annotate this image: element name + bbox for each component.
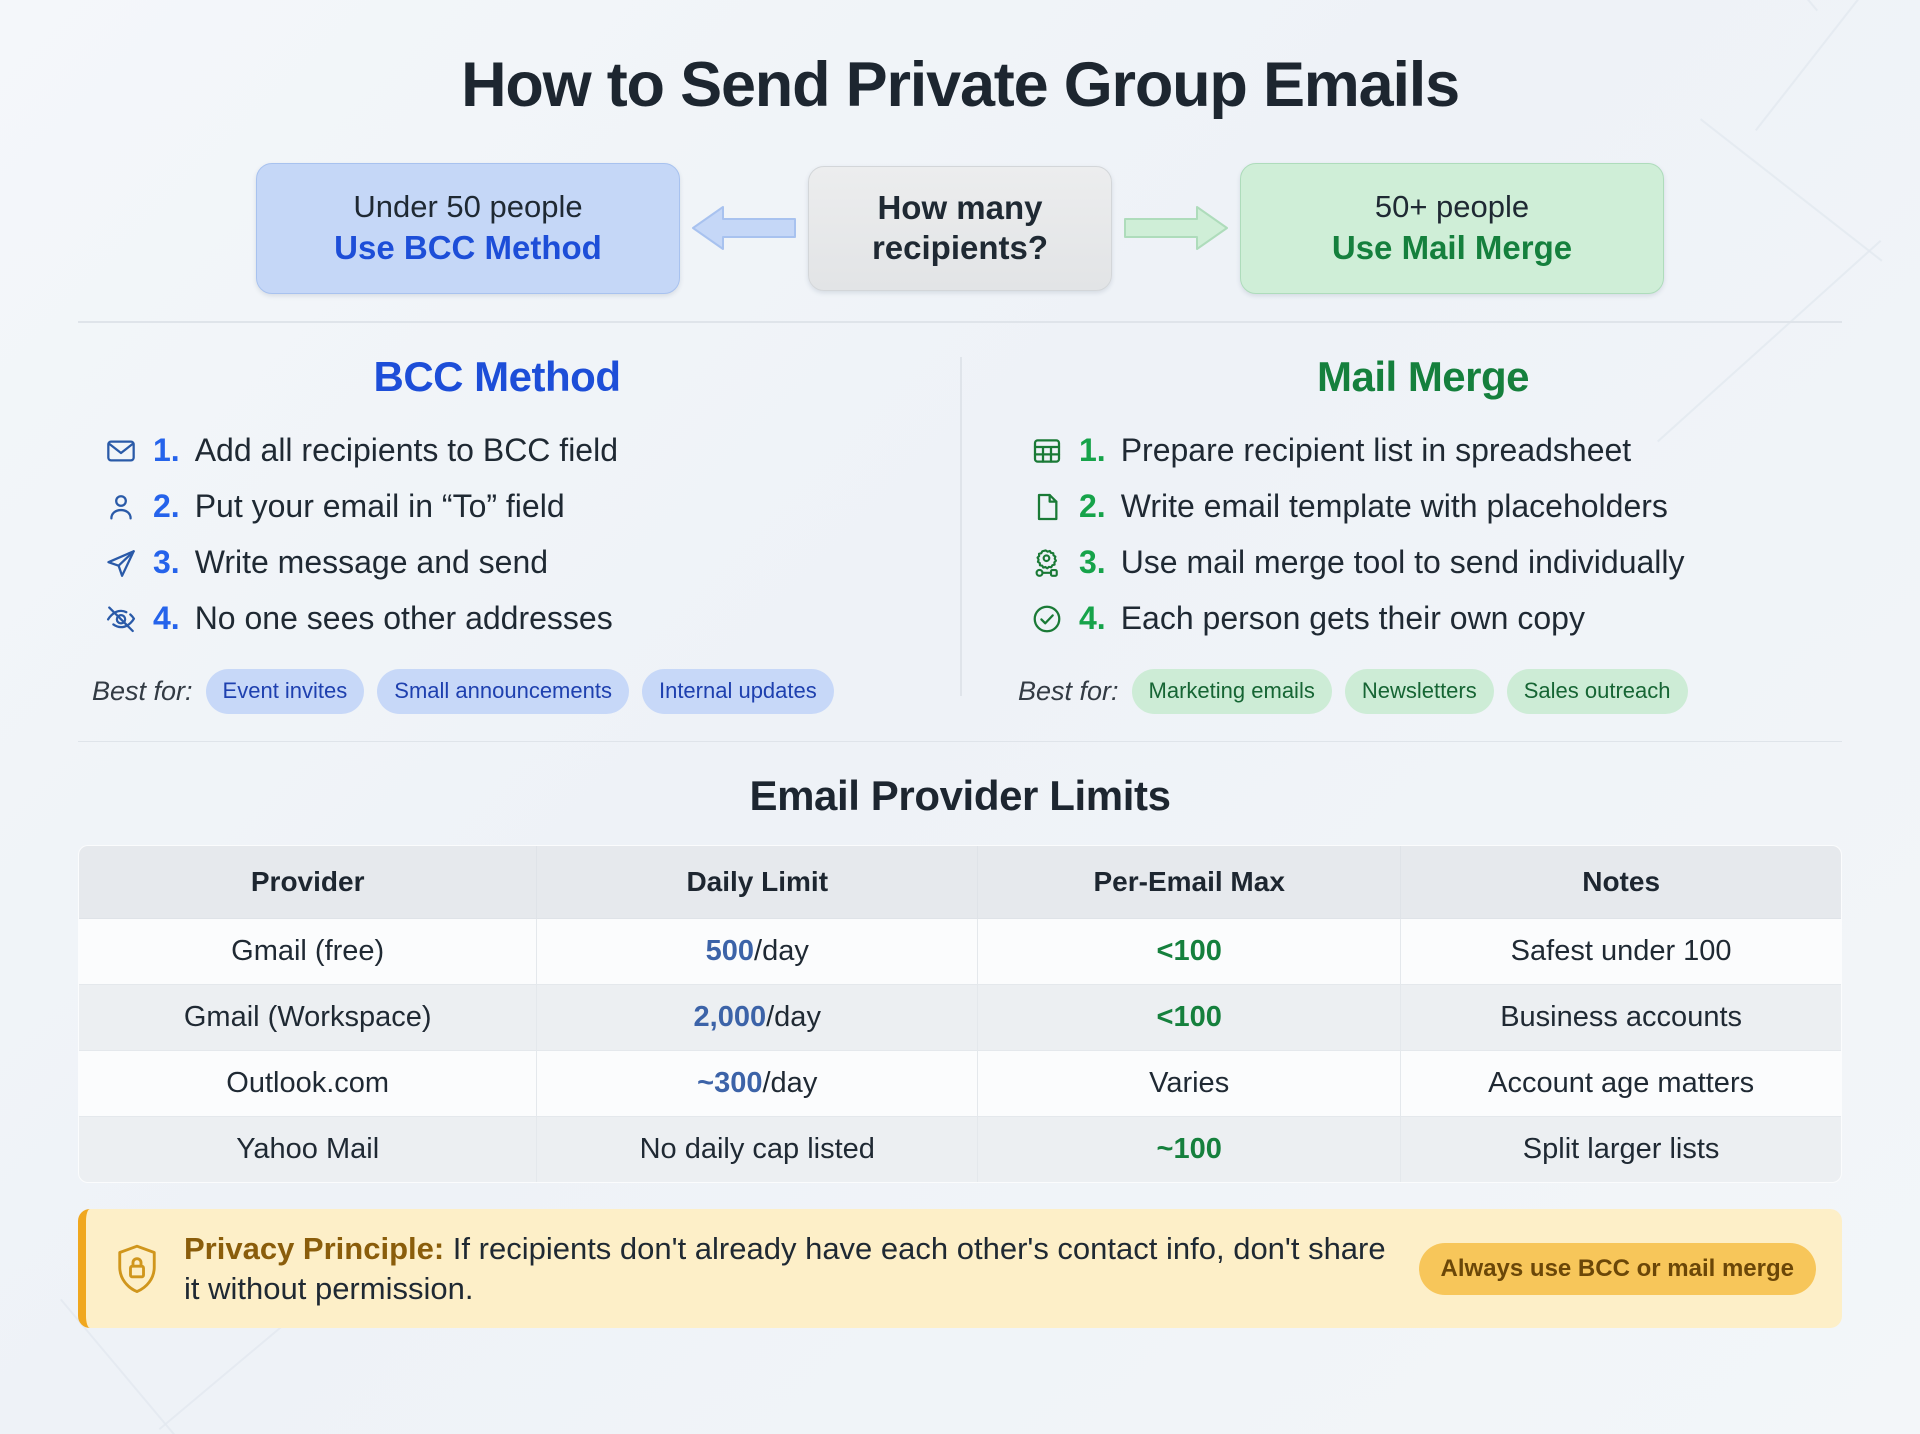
- send-icon: [104, 546, 138, 580]
- arrow-left-icon: [680, 197, 808, 259]
- table-row: Outlook.com ~300/day Varies Account age …: [79, 1051, 1842, 1117]
- step-text: Put your email in “To” field: [195, 488, 565, 525]
- cell-daily-limit: 2,000/day: [537, 985, 978, 1051]
- tag-chip[interactable]: Internal updates: [642, 669, 834, 714]
- cell-notes: Account age matters: [1401, 1051, 1842, 1117]
- step-number: 1.: [1079, 432, 1106, 469]
- cell-provider: Outlook.com: [79, 1051, 537, 1117]
- step-number: 3.: [153, 544, 180, 581]
- shield-lock-icon: [114, 1243, 160, 1295]
- flow-box-mailmerge-action: Use Mail Merge: [1332, 228, 1572, 268]
- list-item: 1. Prepare recipient list in spreadsheet: [1030, 423, 1842, 479]
- list-item: 2. Write email template with placeholder…: [1030, 479, 1842, 535]
- divider-bottom: [78, 741, 1842, 743]
- cell-provider: Gmail (Workspace): [79, 985, 537, 1051]
- step-number: 3.: [1079, 544, 1106, 581]
- step-text: Each person gets their own copy: [1121, 600, 1585, 637]
- document-icon: [1030, 490, 1064, 524]
- table-header-row: Provider Daily Limit Per-Email Max Notes: [79, 846, 1842, 919]
- step-number: 4.: [1079, 600, 1106, 637]
- step-number: 2.: [153, 488, 180, 525]
- column-header-daily-limit: Daily Limit: [537, 846, 978, 919]
- bestfor-label: Best for:: [1018, 676, 1119, 707]
- daily-limit-value: 2,000: [694, 1001, 767, 1033]
- step-text: Add all recipients to BCC field: [195, 432, 618, 469]
- list-item: 2. Put your email in “To” field: [104, 479, 916, 535]
- methods-section: BCC Method 1. Add all recipients to BCC …: [78, 323, 1842, 714]
- tag-chip[interactable]: Small announcements: [377, 669, 629, 714]
- person-icon: [104, 490, 138, 524]
- privacy-banner-text: Privacy Principle: If recipients don't a…: [184, 1229, 1395, 1308]
- flow-box-mailmerge[interactable]: 50+ people Use Mail Merge: [1240, 163, 1664, 294]
- table-row: Gmail (Workspace) 2,000/day <100 Busines…: [79, 985, 1842, 1051]
- list-item: 1. Add all recipients to BCC field: [104, 423, 916, 479]
- tag-chip[interactable]: Marketing emails: [1132, 669, 1332, 714]
- tag-chip[interactable]: Event invites: [206, 669, 365, 714]
- method-bcc-title: BCC Method: [78, 353, 916, 401]
- flow-box-mailmerge-condition: 50+ people: [1375, 189, 1529, 225]
- flow-box-question[interactable]: How many recipients?: [808, 166, 1112, 291]
- eye-off-icon: [104, 602, 138, 636]
- page-title: How to Send Private Group Emails: [78, 0, 1842, 118]
- arrow-right-icon: [1112, 197, 1240, 259]
- cell-per-email-max: Varies: [978, 1051, 1401, 1117]
- bestfor-label: Best for:: [92, 676, 193, 707]
- privacy-banner-label: Privacy Principle:: [184, 1231, 444, 1266]
- method-bcc-bestfor: Best for: Event invites Small announceme…: [78, 669, 916, 714]
- tag-chip[interactable]: Sales outreach: [1507, 669, 1688, 714]
- privacy-banner-badge: Always use BCC or mail merge: [1419, 1243, 1816, 1295]
- cell-per-email-max: <100: [978, 985, 1401, 1051]
- step-text: Write message and send: [195, 544, 548, 581]
- table-row: Yahoo Mail No daily cap listed ~100 Spli…: [79, 1117, 1842, 1183]
- table-title: Email Provider Limits: [78, 772, 1842, 820]
- flow-question-line1: How many: [877, 188, 1042, 228]
- column-header-notes: Notes: [1401, 846, 1842, 919]
- method-bcc-steps: 1. Add all recipients to BCC field 2. Pu…: [78, 423, 916, 647]
- step-number: 2.: [1079, 488, 1106, 525]
- spreadsheet-icon: [1030, 434, 1064, 468]
- cell-daily-limit: No daily cap listed: [537, 1117, 978, 1183]
- infographic-canvas: How to Send Private Group Emails Under 5…: [0, 0, 1920, 1434]
- background-decor-line: [159, 1319, 291, 1430]
- cell-daily-limit: 500/day: [537, 919, 978, 985]
- cell-daily-limit: ~300/day: [537, 1051, 978, 1117]
- flow-question-line2: recipients?: [872, 228, 1048, 268]
- daily-limit-suffix: /day: [754, 935, 809, 967]
- cell-provider: Yahoo Mail: [79, 1117, 537, 1183]
- cell-provider: Gmail (free): [79, 919, 537, 985]
- list-item: 4. No one sees other addresses: [104, 591, 916, 647]
- step-text: Write email template with placeholders: [1121, 488, 1668, 525]
- step-text: No one sees other addresses: [195, 600, 613, 637]
- column-header-per-email-max: Per-Email Max: [978, 846, 1401, 919]
- step-text: Use mail merge tool to send individually: [1121, 544, 1685, 581]
- method-mailmerge-bestfor: Best for: Marketing emails Newsletters S…: [1004, 669, 1842, 714]
- method-bcc: BCC Method 1. Add all recipients to BCC …: [78, 323, 960, 714]
- envelope-icon: [104, 434, 138, 468]
- daily-limit-suffix: No daily cap listed: [640, 1133, 875, 1165]
- method-mailmerge: Mail Merge 1. Prepare recipient list in …: [960, 323, 1842, 714]
- check-circle-icon: [1030, 602, 1064, 636]
- flow-box-bcc[interactable]: Under 50 people Use BCC Method: [256, 163, 680, 294]
- table-row: Gmail (free) 500/day <100 Safest under 1…: [79, 919, 1842, 985]
- decision-flow: Under 50 people Use BCC Method How many …: [78, 162, 1842, 294]
- cell-per-email-max: <100: [978, 919, 1401, 985]
- column-header-provider: Provider: [79, 846, 537, 919]
- cell-notes: Split larger lists: [1401, 1117, 1842, 1183]
- flow-box-bcc-condition: Under 50 people: [353, 189, 582, 225]
- step-text: Prepare recipient list in spreadsheet: [1121, 432, 1632, 469]
- gear-workflow-icon: [1030, 546, 1064, 580]
- daily-limit-suffix: /day: [766, 1001, 821, 1033]
- step-number: 4.: [153, 600, 180, 637]
- flow-box-bcc-action: Use BCC Method: [334, 228, 602, 268]
- privacy-banner: Privacy Principle: If recipients don't a…: [78, 1209, 1842, 1328]
- tag-chip[interactable]: Newsletters: [1345, 669, 1494, 714]
- daily-limit-value: ~300: [697, 1067, 762, 1099]
- step-number: 1.: [153, 432, 180, 469]
- daily-limit-value: 500: [706, 935, 754, 967]
- cell-notes: Safest under 100: [1401, 919, 1842, 985]
- method-mailmerge-title: Mail Merge: [1004, 353, 1842, 401]
- list-item: 4. Each person gets their own copy: [1030, 591, 1842, 647]
- method-mailmerge-steps: 1. Prepare recipient list in spreadsheet…: [1004, 423, 1842, 647]
- provider-limits-table: Provider Daily Limit Per-Email Max Notes…: [78, 845, 1842, 1183]
- daily-limit-suffix: /day: [763, 1067, 818, 1099]
- list-item: 3. Use mail merge tool to send individua…: [1030, 535, 1842, 591]
- cell-notes: Business accounts: [1401, 985, 1842, 1051]
- cell-per-email-max: ~100: [978, 1117, 1401, 1183]
- list-item: 3. Write message and send: [104, 535, 916, 591]
